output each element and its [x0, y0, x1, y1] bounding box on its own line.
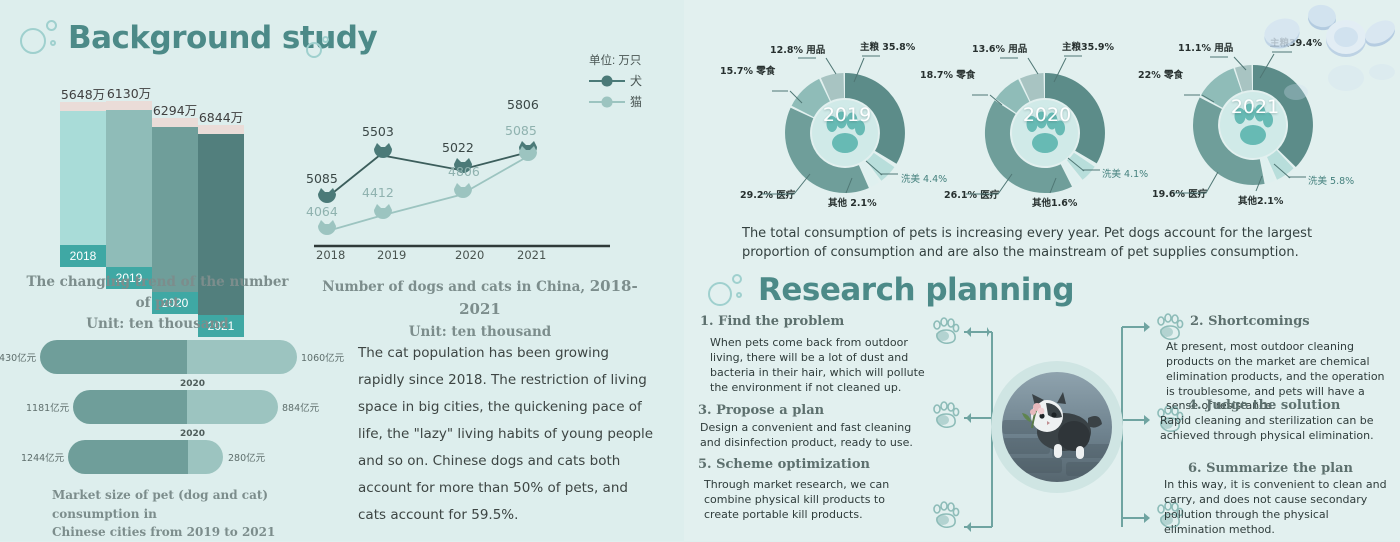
line-chart-dogs-cats: 5085 5503 5022 5085 4064 4412 4806 5806 … — [300, 50, 660, 275]
line-value-dog-2021: 5085 — [505, 123, 537, 138]
step-3-body: Design a convenient and fast cleaning an… — [700, 421, 928, 451]
bar-value-2018: 5648万 — [61, 84, 105, 103]
bar-label-2018: 2018 — [60, 245, 106, 267]
line-chart-caption-line1: Number of dogs and cats in China, 2018-2… — [310, 275, 650, 322]
line-axis-label-2021: 2021 — [517, 248, 546, 262]
bubble-decoration-left — [18, 18, 62, 60]
bar-body-2018 — [60, 111, 106, 245]
paw-icon-step-5 — [928, 500, 962, 530]
line-value-cat-2020: 4806 — [448, 164, 480, 179]
donut-2019-label-other: 其他 2.1% — [828, 195, 877, 209]
infographic-page: Background study 5648万 2018 6130万 2019 6… — [0, 0, 1400, 541]
bar-cap-2020 — [152, 118, 198, 127]
hbar-year-1: 2020 — [180, 379, 205, 389]
bar-2018: 5648万 2018 — [60, 102, 106, 267]
step-3-heading: 3. Propose a plan — [698, 403, 824, 418]
hbar-chart-caption: Market size of pet (dog and cat) consump… — [52, 486, 352, 542]
bar-chart-caption: The changing trend of the number of pet … — [20, 272, 295, 335]
step-5-heading: 5. Scheme optimization — [698, 457, 870, 472]
bar-chart-caption-line1: The changing trend of the number of pet — [20, 272, 295, 314]
hbar-right-2 — [187, 390, 278, 424]
hbar-left-3 — [68, 440, 188, 474]
line-value-dog-2018: 5085 — [306, 171, 338, 186]
hbar-row-3: 1244亿元 280亿元 — [68, 440, 263, 474]
line-axis-label-2018: 2018 — [316, 248, 345, 262]
step-5-body: Through market research, we can combine … — [704, 478, 922, 523]
bar-body-2019 — [106, 110, 152, 267]
page-title-research-planning: Research planning — [758, 272, 1074, 308]
hbar-row-2: 1181亿元 884亿元 — [73, 390, 308, 424]
bar-value-2021: 6844万 — [199, 107, 243, 126]
donut-2021-label-grooming: 洗美 5.8% — [1308, 173, 1354, 187]
bar-value-2020: 6294万 — [153, 100, 197, 119]
bar-cap-2018 — [60, 102, 106, 111]
marker-dog-2019 — [374, 143, 392, 158]
line-value-dog-2020: 5022 — [442, 140, 474, 155]
bar-chart-pet-count: 5648万 2018 6130万 2019 6294万 2020 6844万 2… — [60, 62, 240, 267]
line-axis-label-2020: 2020 — [455, 248, 484, 262]
donut-2019-label-supplies: 12.8% 用品 — [770, 42, 825, 56]
summary-paragraph: The cat population has been growing rapi… — [358, 340, 658, 529]
line-axis-label-2019: 2019 — [377, 248, 406, 262]
hbar-label-right-3: 280亿元 — [228, 450, 265, 464]
bar-value-2019: 6130万 — [107, 83, 151, 102]
legend-row-cat: 猫 — [589, 93, 642, 110]
bar-cap-2019 — [106, 101, 152, 110]
hbar-label-right-2: 884亿元 — [282, 400, 319, 414]
line-value-cat-2021: 5806 — [507, 97, 539, 112]
hbar-caption-line1: Market size of pet (dog and cat) consump… — [52, 486, 352, 523]
marker-cat-2018 — [318, 220, 336, 235]
step-1-body: When pets come back from outdoor living,… — [710, 336, 935, 395]
legend-label-dog: 犬 — [630, 72, 642, 89]
step-6-body: In this way, it is convenient to clean a… — [1164, 478, 1392, 537]
donut-2021-label-supplies: 11.1% 用品 — [1178, 40, 1233, 54]
bar-body-2020 — [152, 127, 198, 292]
line-series-dog — [324, 153, 525, 200]
bar-cap-2021 — [198, 125, 244, 134]
donut-2021-label-snacks: 22% 零食 — [1138, 67, 1183, 81]
donut-2019-ring — [780, 68, 910, 198]
product-lid-decorations — [1250, 0, 1400, 110]
line-chart-caption: Number of dogs and cats in China, 2018-2… — [310, 275, 650, 342]
donut-2020-label-snacks: 18.7% 零食 — [920, 67, 975, 81]
hbar-label-left-3: 1244亿元 — [21, 450, 64, 464]
donut-2019-label-medical: 29.2% 医疗 — [740, 187, 795, 201]
step-6-heading: 6. Summarize the plan — [1188, 461, 1353, 476]
hbar-caption-line2: Chinese cities from 2019 to 2021 — [52, 523, 352, 542]
donut-2021-label-other: 其他2.1% — [1238, 193, 1283, 207]
line-value-cat-2018: 4064 — [306, 204, 338, 219]
step-1-heading: 1. Find the problem — [700, 314, 844, 329]
donut-chart-2020: 2020 主粮35.9% 洗美 4.1% 其他1.6% 26.1% 医疗 18.… — [952, 48, 1142, 228]
donut-2020-ring — [980, 68, 1110, 198]
bar-chart-caption-line2: Unit: ten thousand — [20, 314, 295, 335]
donut-2020-year: 2020 — [952, 104, 1142, 126]
donut-2020-label-other: 其他1.6% — [1032, 195, 1077, 209]
legend-marker-dog — [601, 75, 612, 86]
legend-line-dog — [589, 80, 625, 82]
donut-2019-year: 2019 — [752, 104, 942, 126]
step-4-body: Rapid cleaning and sterilization can be … — [1160, 414, 1386, 444]
donut-chart-2019: 2019 主粮 35.8% 洗美 4.4% 其他 2.1% 29.2% 医疗 1… — [752, 48, 942, 228]
bubble-decoration-right — [706, 270, 750, 312]
paw-icon-step-3 — [928, 400, 962, 430]
hbar-right-1 — [187, 340, 297, 374]
donut-2020-label-supplies: 13.6% 用品 — [972, 41, 1027, 55]
legend-label-cat: 猫 — [630, 93, 642, 110]
donut-summary-note: The total consumption of pets is increas… — [742, 225, 1362, 263]
donut-2020-label-main-food: 主粮35.9% — [1062, 39, 1114, 53]
marker-dog-2018 — [318, 188, 336, 203]
donut-2019-label-snacks: 15.7% 零食 — [720, 63, 775, 77]
legend-unit: 单位: 万只 — [589, 52, 642, 68]
hbar-right-3 — [188, 440, 223, 474]
paw-icon-step-2 — [1152, 312, 1186, 342]
hbar-left-1 — [40, 340, 187, 374]
line-value-dog-2019: 5503 — [362, 124, 394, 139]
donut-2019-label-grooming: 洗美 4.4% — [901, 171, 947, 185]
hbar-left-2 — [73, 390, 187, 424]
kitten-photo — [1002, 372, 1112, 482]
donut-2021-label-medical: 19.6% 医疗 — [1152, 186, 1207, 200]
step-2-heading: 2. Shortcomings — [1190, 314, 1310, 329]
donut-2019-label-main-food: 主粮 35.8% — [860, 39, 915, 53]
line-value-cat-2019: 4412 — [362, 185, 394, 200]
legend-marker-cat — [601, 96, 612, 107]
legend-line-cat — [589, 101, 625, 103]
step-4-heading: 4. Judge the solution — [1188, 398, 1340, 413]
donut-2020-label-medical: 26.1% 医疗 — [944, 187, 999, 201]
hbar-row-1: 1430亿元 1060亿元 — [40, 340, 340, 374]
line-chart-caption-text: Number of dogs and cats in China, — [322, 279, 589, 295]
line-series-cat — [324, 158, 525, 232]
hbar-year-2: 2020 — [180, 429, 205, 439]
hbar-label-right-1: 1060亿元 — [301, 350, 344, 364]
legend-row-dog: 犬 — [589, 72, 642, 89]
donut-2020-label-grooming: 洗美 4.1% — [1102, 166, 1148, 180]
hbar-label-left-1: 1430亿元 — [0, 350, 36, 364]
hbar-chart-market-size: 1430亿元 1060亿元 2020 1181亿元 884亿元 2020 124… — [40, 340, 340, 455]
hbar-label-left-2: 1181亿元 — [26, 400, 69, 414]
line-chart-legend: 单位: 万只 犬 猫 — [589, 52, 642, 110]
bar-2019: 6130万 2019 — [106, 101, 152, 289]
